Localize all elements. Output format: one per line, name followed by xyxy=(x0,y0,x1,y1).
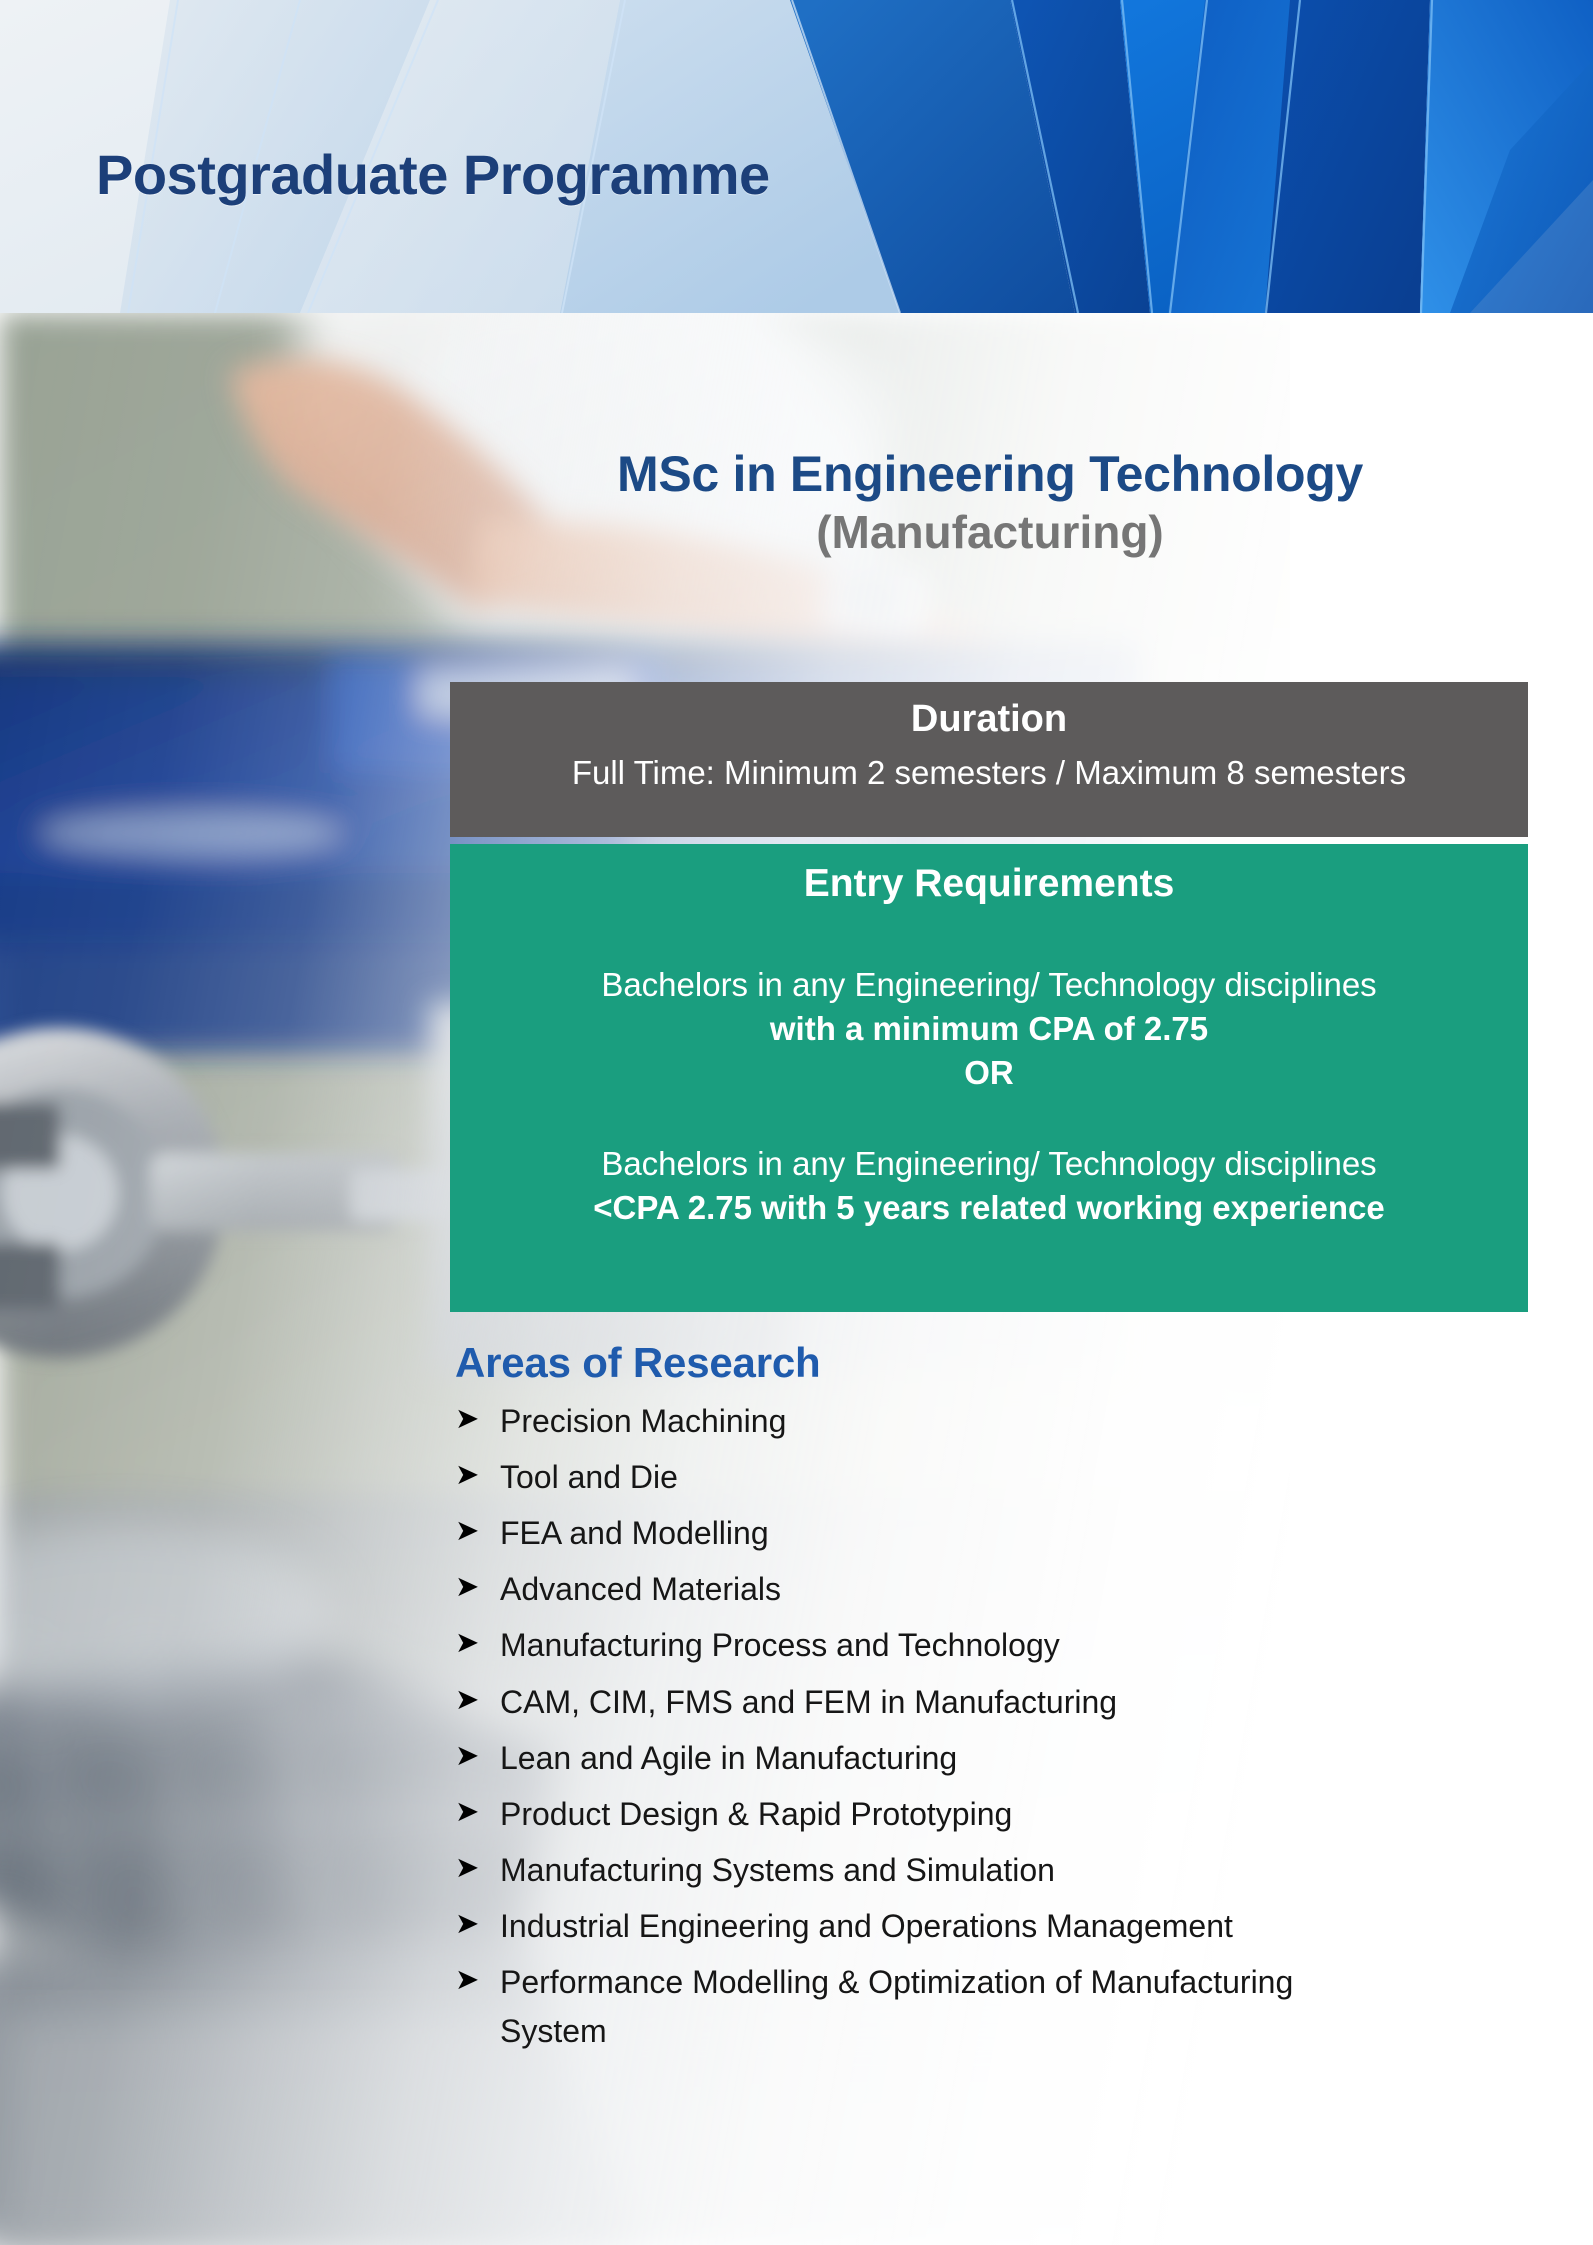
page-title: Postgraduate Programme xyxy=(96,142,770,207)
research-item-label: Product Design & Rapid Prototyping xyxy=(500,1796,1455,1833)
program-title: MSc in Engineering Technology xyxy=(450,448,1530,501)
research-list-item: ➤Precision Machining xyxy=(455,1403,1455,1440)
research-list-item: ➤Manufacturing Systems and Simulation xyxy=(455,1852,1455,1889)
duration-heading: Duration xyxy=(450,696,1528,744)
arrow-bullet-icon: ➤ xyxy=(455,1851,479,1886)
research-item-label: Tool and Die xyxy=(500,1459,1455,1496)
flyer-page: Postgraduate Programme xyxy=(0,0,1593,2245)
duration-box: Duration Full Time: Minimum 2 semesters … xyxy=(450,682,1528,837)
arrow-bullet-icon: ➤ xyxy=(455,1514,479,1549)
areas-of-research-heading: Areas of Research xyxy=(455,1339,820,1387)
entry-option-2-line-1: Bachelors in any Engineering/ Technology… xyxy=(450,1142,1528,1186)
arrow-bullet-icon: ➤ xyxy=(455,1458,479,1493)
arrow-bullet-icon: ➤ xyxy=(455,1795,479,1830)
research-item-label: Industrial Engineering and Operations Ma… xyxy=(500,1908,1455,1945)
entry-separator: OR xyxy=(450,1051,1528,1095)
arrow-bullet-icon: ➤ xyxy=(455,1907,479,1942)
research-item-label: Advanced Materials xyxy=(500,1571,1455,1608)
research-list-item: ➤Performance Modelling & Optimization of… xyxy=(455,1964,1455,2050)
research-item-label: Manufacturing Systems and Simulation xyxy=(500,1852,1455,1889)
arrow-bullet-icon: ➤ xyxy=(455,1683,479,1718)
header-banner: Postgraduate Programme xyxy=(0,0,1593,313)
entry-requirements-box: Entry Requirements Bachelors in any Engi… xyxy=(450,844,1528,1312)
arrow-bullet-icon: ➤ xyxy=(455,1626,479,1661)
research-item-label: FEA and Modelling xyxy=(500,1515,1455,1552)
entry-option-2: Bachelors in any Engineering/ Technology… xyxy=(450,1142,1528,1230)
research-item-label: Precision Machining xyxy=(500,1403,1455,1440)
entry-option-1-line-2: with a minimum CPA of 2.75 xyxy=(450,1007,1528,1051)
entry-option-2-line-2: <CPA 2.75 with 5 years related working e… xyxy=(450,1186,1528,1230)
research-item-label: Performance Modelling & Optimization of … xyxy=(500,1964,1455,2001)
content-area: MSc in Engineering Technology (Manufactu… xyxy=(0,313,1593,2245)
arrow-bullet-icon: ➤ xyxy=(455,1739,479,1774)
research-item-label: CAM, CIM, FMS and FEM in Manufacturing xyxy=(500,1684,1455,1721)
entry-requirements-heading: Entry Requirements xyxy=(450,860,1528,909)
research-list-item: ➤Product Design & Rapid Prototyping xyxy=(455,1796,1455,1833)
entry-option-1: Bachelors in any Engineering/ Technology… xyxy=(450,963,1528,1095)
entry-option-1-line-1: Bachelors in any Engineering/ Technology… xyxy=(450,963,1528,1007)
research-list-item: ➤Manufacturing Process and Technology xyxy=(455,1627,1455,1664)
research-list-item: ➤Advanced Materials xyxy=(455,1571,1455,1608)
research-list-item: ➤Industrial Engineering and Operations M… xyxy=(455,1908,1455,1945)
arrow-bullet-icon: ➤ xyxy=(455,1402,479,1437)
research-item-label-continued: System xyxy=(500,2013,1455,2050)
research-list-item: ➤Tool and Die xyxy=(455,1459,1455,1496)
program-subtitle: (Manufacturing) xyxy=(450,508,1530,557)
research-list-item: ➤FEA and Modelling xyxy=(455,1515,1455,1552)
areas-of-research-list: ➤Precision Machining➤Tool and Die➤FEA an… xyxy=(455,1403,1455,2069)
research-item-label: Lean and Agile in Manufacturing xyxy=(500,1740,1455,1777)
arrow-bullet-icon: ➤ xyxy=(455,1570,479,1605)
research-list-item: ➤CAM, CIM, FMS and FEM in Manufacturing xyxy=(455,1684,1455,1721)
research-item-label: Manufacturing Process and Technology xyxy=(500,1627,1455,1664)
duration-text: Full Time: Minimum 2 semesters / Maximum… xyxy=(450,752,1528,795)
research-list-item: ➤Lean and Agile in Manufacturing xyxy=(455,1740,1455,1777)
arrow-bullet-icon: ➤ xyxy=(455,1963,479,1998)
